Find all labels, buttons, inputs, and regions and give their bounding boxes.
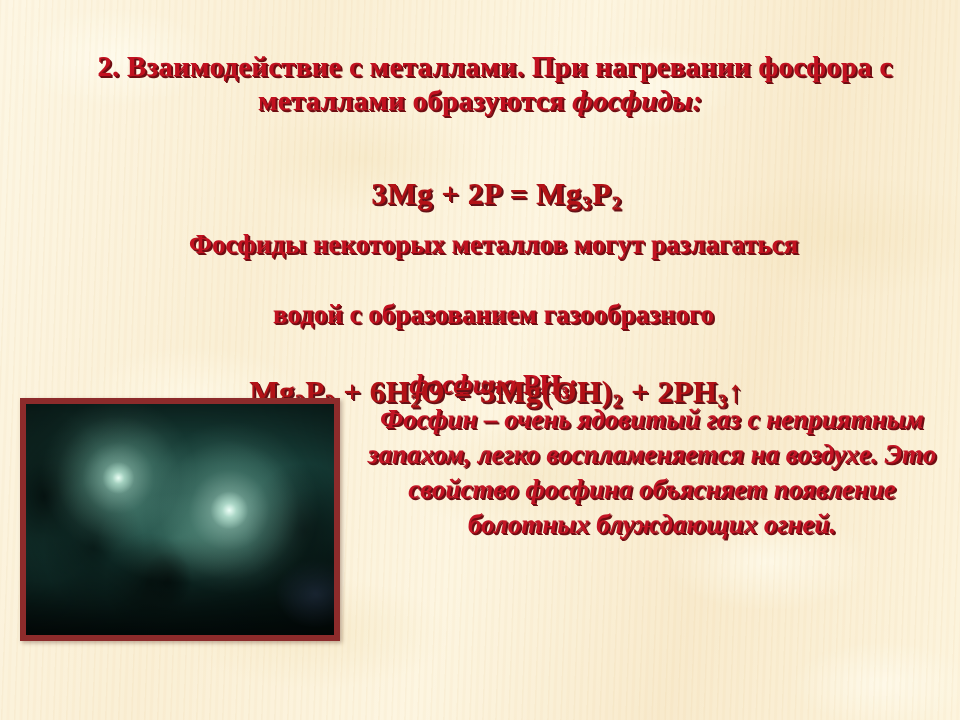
swamp-will-o-the-wisp-photo [26, 404, 334, 635]
phosphine-description: Фосфин – очень ядовитый газ с неприятным… [352, 402, 952, 542]
slide-canvas: 2. Взаимодействие с металлами. При нагре… [0, 0, 960, 720]
phosphide-note-line-1: Фосфиды некоторых металлов могут разлага… [189, 229, 798, 259]
title-emphasis-text: фосфиды: [572, 85, 702, 117]
swamp-photo-frame [20, 398, 340, 641]
phosphide-note-line-2: водой с образованием газообразного [273, 299, 714, 329]
page-title: 2. Взаимодействие с металлами. При нагре… [30, 16, 930, 153]
title-main-text: 2. Взаимодействие с металлами. При нагре… [97, 51, 900, 117]
